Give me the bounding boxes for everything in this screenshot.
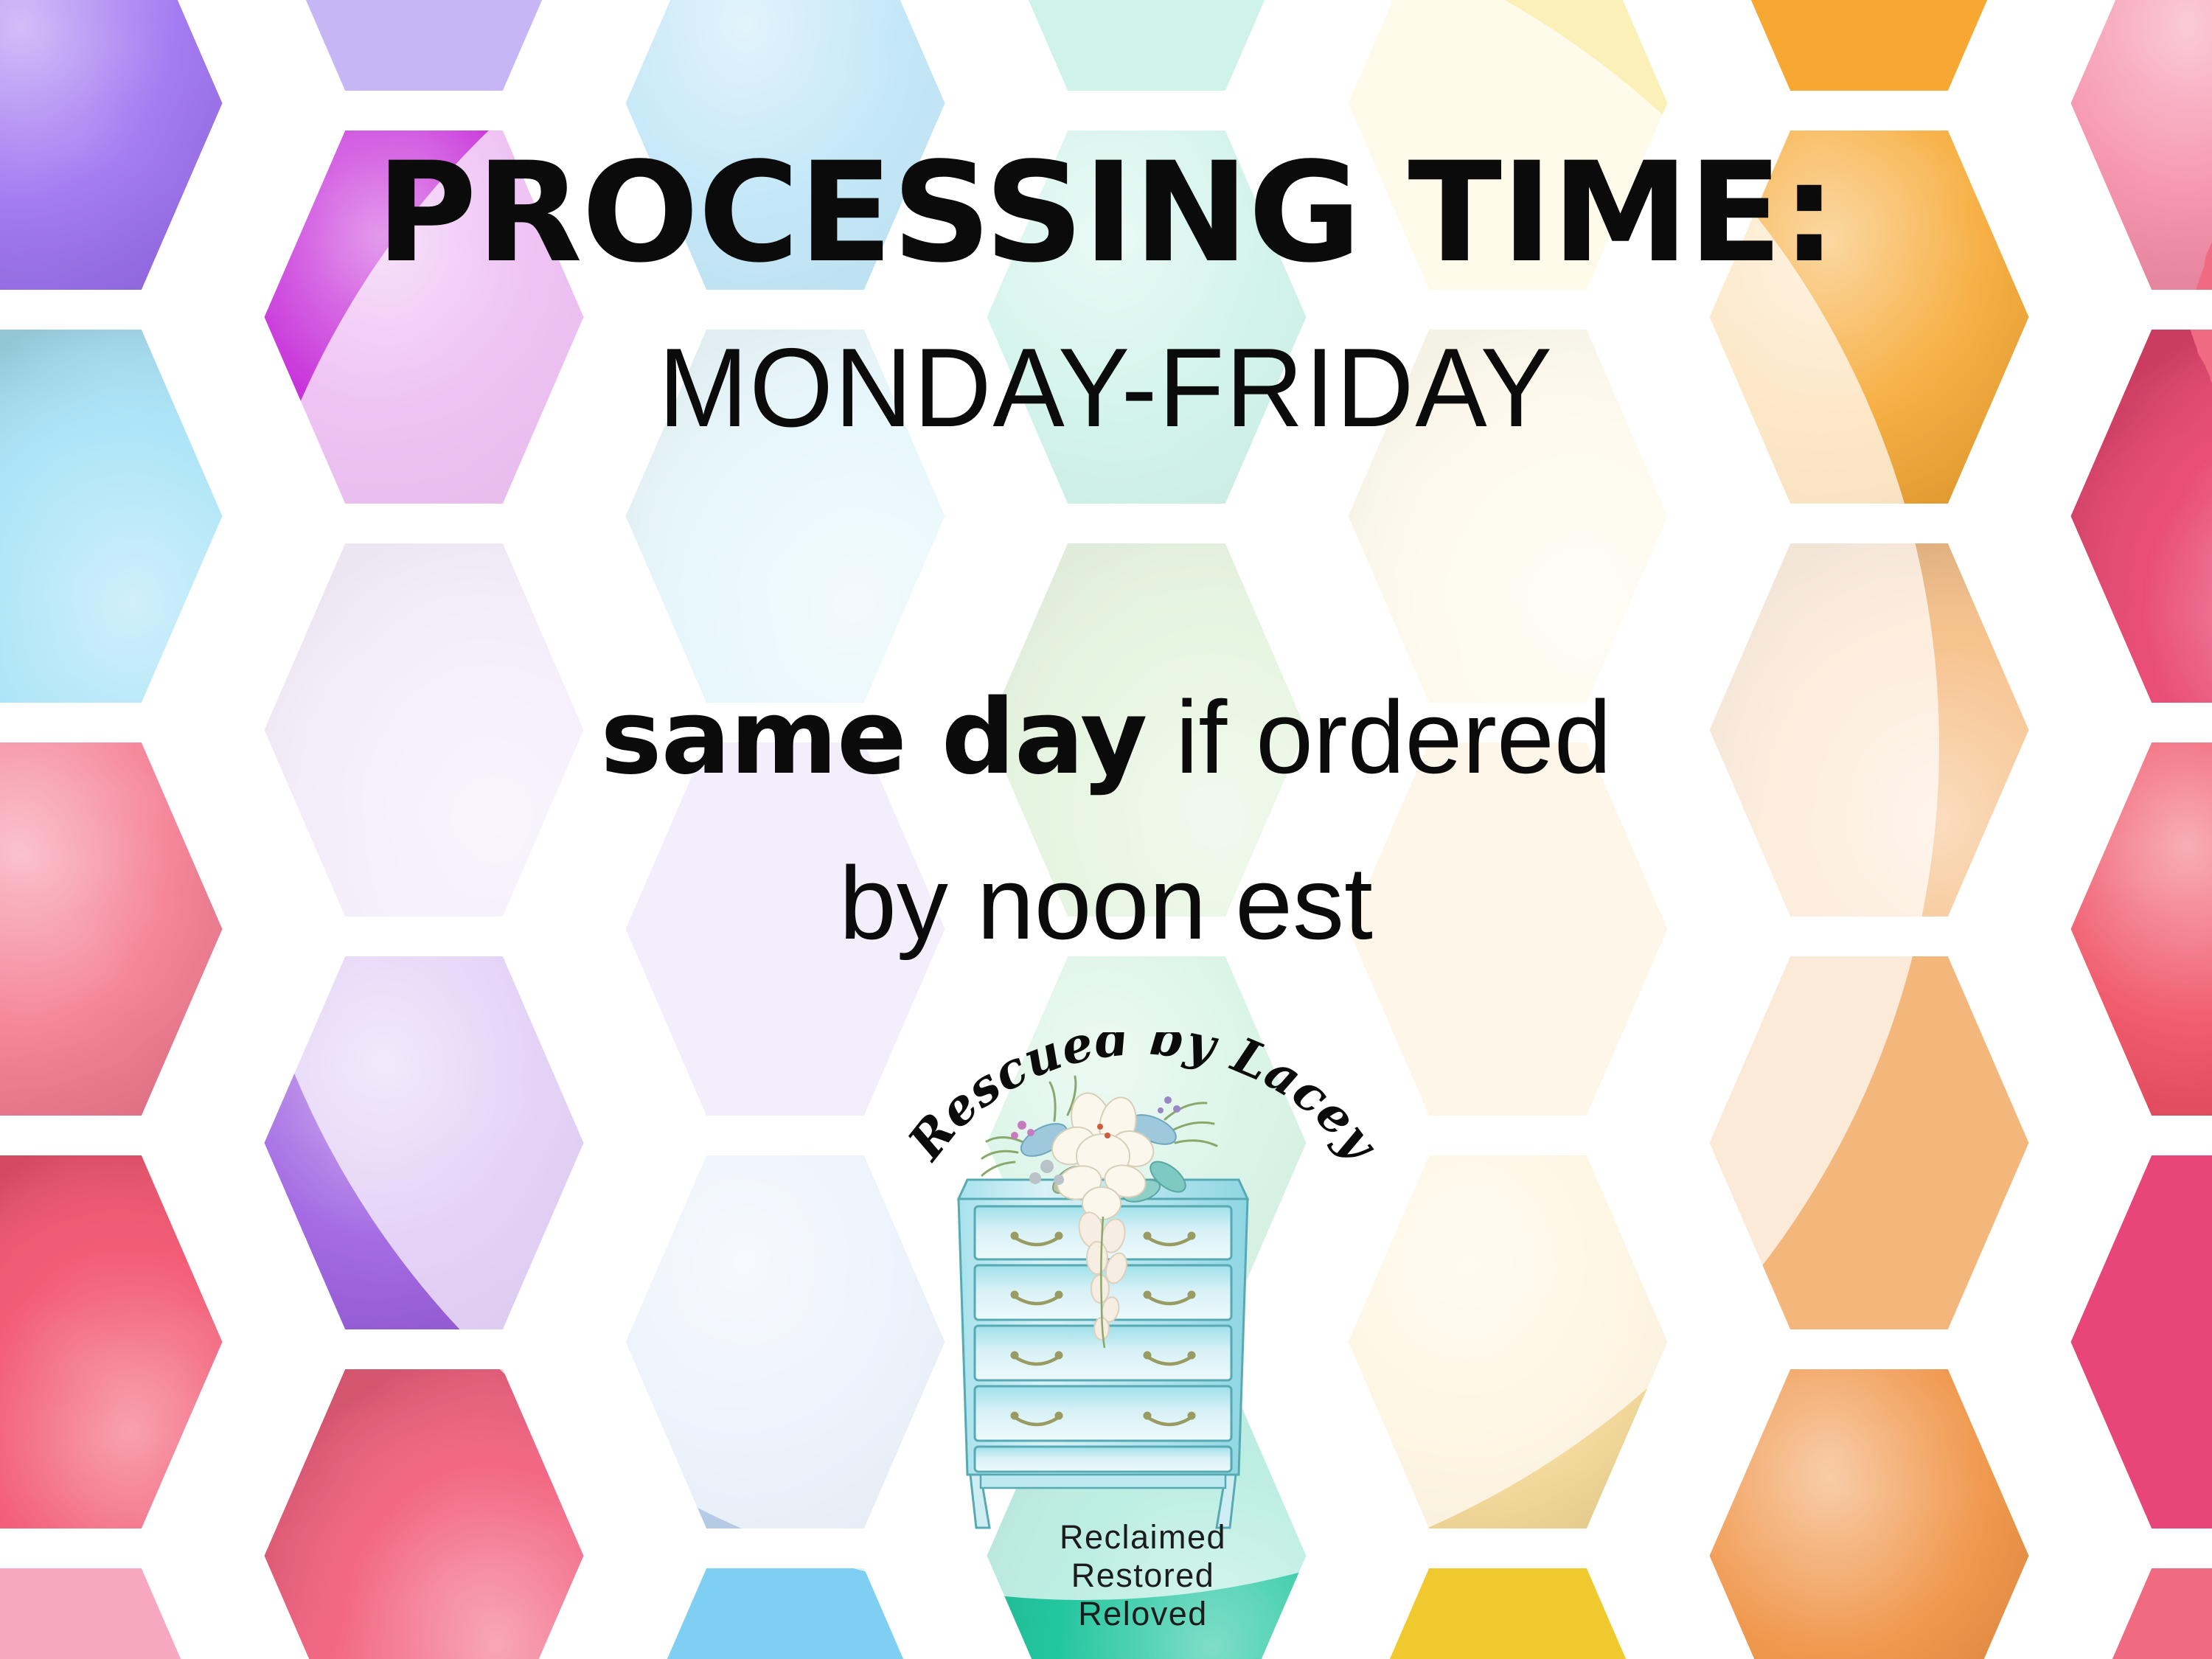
promise-rest: if ordered bbox=[1147, 679, 1611, 795]
subtitle-days: MONDAY-FRIDAY bbox=[44, 332, 2168, 444]
page-title: PROCESSING TIME: bbox=[0, 145, 2212, 282]
brand-logo: Rescued by Lacey Reclaimed Restored Relo… bbox=[870, 1032, 1416, 1630]
tagline-line-3: Reloved bbox=[1078, 1595, 1208, 1630]
promise-emphasis: same day bbox=[600, 678, 1147, 798]
tagline-line-2: Restored bbox=[1071, 1557, 1215, 1594]
promise-line-2: by noon est bbox=[0, 852, 2212, 955]
tagline-line-1: Reclaimed bbox=[1060, 1518, 1226, 1556]
promise-line-1: same day if ordered bbox=[0, 686, 2212, 790]
poster-canvas: PROCESSING TIME: MONDAY-FRIDAY same day … bbox=[0, 0, 2212, 1659]
